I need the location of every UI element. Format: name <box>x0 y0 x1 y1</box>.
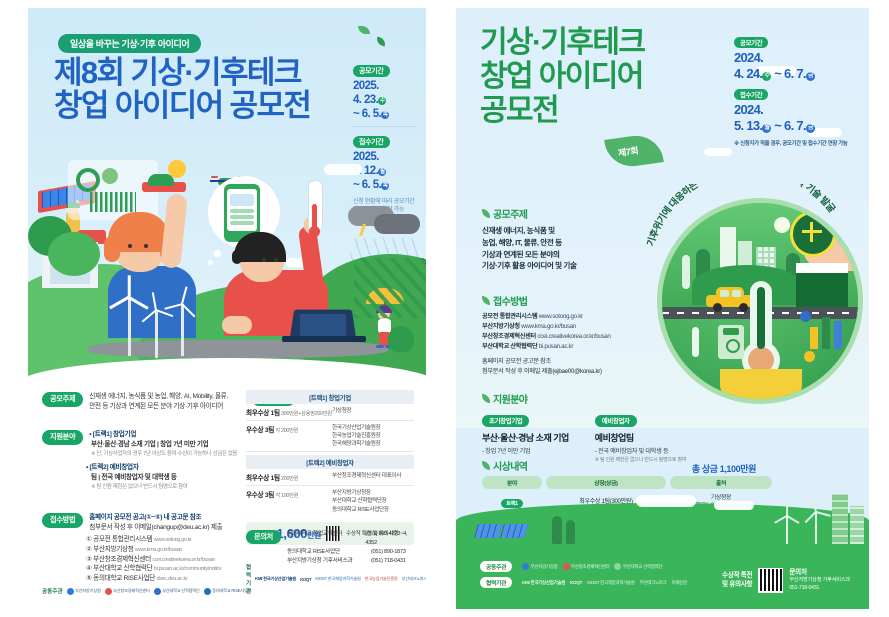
dot-marker <box>800 311 811 322</box>
apply-item: ③ 부산창조경제혁신센터 ccei.creativekorea.or.kr/bu… <box>86 555 247 565</box>
inquiry-label: 문의처 <box>789 569 807 576</box>
right-date-block: 공모기간 2024. 4. 24.수 ~ 6. 7.금 접수기간 2024. 5… <box>734 32 862 147</box>
inquiry-tel: 051-718-0431 <box>789 585 850 593</box>
cloud-icon <box>324 164 362 175</box>
host-name: 부산창조경제혁신센터 <box>113 588 150 594</box>
topic-line: 농업, 해양, IT, 물류, 안전 등 <box>482 237 662 249</box>
leaf-icon <box>482 296 490 305</box>
awards-table: [트랙1] 창업기업 최우수상 1팀 300만원+상용권200만원 기상청장 우… <box>246 390 414 545</box>
partner-name: KOQT <box>300 577 311 582</box>
right-apply-range: 4. 24.수 ~ 6. 7.금 <box>734 66 862 82</box>
topic-line-1: 신재생 에너지, 농식품 및 농업, 해양, AI, Mobility, 물류, <box>86 392 234 402</box>
award-amount: 각 200만원 <box>275 428 298 434</box>
contact-block: 문의처 동의대학교 창업교육센터 (051) 890-4273~4, 4352 … <box>246 530 416 567</box>
leaf-icon <box>482 394 490 403</box>
section-right-fields: 지원분야 초기창업기업 부산·울산·경남 소재 기업 - 창업 7년 이만 기업… <box>482 391 772 463</box>
right-footer-logos: 공동주관 부산지방기상청 부산창조경제혁신센터 부산대학교 산학협력단 협력기관… <box>480 561 687 593</box>
table-row: 최우수상 1팀 300만원+상용권200만원 기상청장 <box>246 404 414 421</box>
prizes-col-award: 상장(상금) <box>546 476 666 489</box>
section-apply: 접수방법 홈페이지 공모전 공고(①~⑤) 내 공고문 참조 첨부문서 작성 후… <box>42 513 247 584</box>
section-right-topic: 공모주제 신재생 에너지, 농식품 및 농업, 해양, IT, 물류, 안전 등… <box>482 206 662 272</box>
weekday-chip: 금 <box>806 124 815 133</box>
partner-name: 부산테크노파크 <box>640 580 667 586</box>
field-note: ※ 팀 인원 제한은 없으나 반드시 팀명으로 참여 <box>595 456 687 463</box>
sleeve-shape <box>796 267 848 307</box>
award-prize: 우수상 3팀 <box>246 427 274 434</box>
host-name: 부산지방기상청 <box>75 588 101 594</box>
weekday-chip: 수 <box>378 97 386 105</box>
leaf-icon <box>482 209 490 218</box>
field-title: 부산·울산·경남 소재 기업 <box>482 431 569 444</box>
topic-line: 신재생 에너지, 농식품 및 <box>482 225 662 237</box>
track2-body: 팀 | 전국 예비창업자 및 대학생 등 <box>91 473 242 483</box>
apply-item-name: 공모전 통합관리시스템 <box>482 313 537 320</box>
host-logo: 부산지방기상청 <box>522 563 557 570</box>
weekday-chip: 수 <box>762 72 771 81</box>
right-date-note: ※ 신청자가 적을 경우, 공모기간 및 접수기간 연장 가능 <box>734 139 862 147</box>
host-name: 부산창조경제혁신센터 <box>571 564 609 570</box>
right-receipt-to: ~ 6. 7. <box>774 118 806 133</box>
topic-heading-text: 공모주제 <box>493 206 527 221</box>
plus-circle-icon <box>790 211 836 257</box>
apply-period-year: 2025. <box>353 79 415 93</box>
building-shape <box>850 506 864 544</box>
host-name: 부산대학교 산학협력단 <box>623 564 662 570</box>
host-label: 공동주관 <box>42 587 63 595</box>
wind-turbine-icon <box>168 294 198 356</box>
apply-item-url: www.sotong.go.kr <box>539 313 583 320</box>
right-footer: 공동주관 부산지방기상청 부산창조경제혁신센터 부산대학교 산학협력단 협력기관… <box>480 561 850 593</box>
page-title: 제8회 기상·기후테크 창업 아이디어 공모전 <box>54 56 354 123</box>
inquiry-name: 부산지방기상청 기후서비스과 <box>789 577 850 585</box>
right-apply-from: 4. 24. <box>734 66 762 81</box>
partner-name: KIOST 한국해양과학기술원 <box>315 576 360 582</box>
host-name: 부산대학교 산학협력단 <box>162 588 200 594</box>
prizes-table-header: 분야 상장(상금) 출처 <box>482 476 772 489</box>
apply-item-url: www.kma.go.kr/busan <box>521 323 576 330</box>
apply-item: ⑤ 동의대학교 RISE사업단 dxec.deu.ac.kr <box>86 574 247 584</box>
tree-icon <box>552 516 562 544</box>
partner-name: KOQT <box>570 580 582 585</box>
qr-inquiry-block: 수상작 특전 및 유의사항 문의처 부산지방기상청 기후서비스과 051-718… <box>722 568 850 593</box>
apply-item-num: ② <box>86 546 92 553</box>
cloud-icon <box>636 495 696 507</box>
title-line-1: 제8회 기상·기후테크 <box>54 56 354 89</box>
contact-row: 동의대학교 창업교육센터 (051) 890-4273~4, 4352 <box>287 530 416 548</box>
inquiry-block: 문의처 부산지방기상청 기후서비스과 051-718-0431 <box>789 568 850 593</box>
contact-badge: 문의처 <box>246 530 281 544</box>
field-col-startup: 초기창업기업 부산·울산·경남 소재 기업 - 창업 7년 이만 기업 <box>482 410 569 463</box>
right-title-line-1: 기상·기후테크 <box>480 26 730 60</box>
apply-item-name: 부산지방기상청 <box>482 323 520 330</box>
award-org: 부산지방기상청장 부산대학교 산학협력단장 동의대학교 RISE사업단장 <box>332 489 414 513</box>
partner-logo-row: 협력기관 KMI 한국기상산업기술원 KOQT KIOST 한국해양과학기술원 … <box>246 563 426 595</box>
storm-cloud-icon <box>374 214 420 234</box>
host-name: 부산지방기상청 <box>531 564 558 570</box>
host-logo: 부산창조경제혁신센터 <box>563 563 610 570</box>
award-amount: 각 100만원 <box>275 493 298 499</box>
cuff-shape <box>796 263 848 273</box>
field-col-preliminary: 예비창업자 예비창업팀 - 전국 예비창업자 및 대학생 등 ※ 팀 인원 제한… <box>595 410 687 463</box>
bush-shape <box>48 232 100 276</box>
partner-name: 부산테크노파크 <box>402 576 426 582</box>
tree-icon <box>566 520 575 544</box>
table-row: 우수상 3팀 각 200만원 한국기상산업기술원장 한국농업기술진흥원장 한국해… <box>246 421 414 452</box>
prizes-heading: 시상내역 <box>482 458 527 473</box>
apply-item-url: dxec.deu.ac.kr <box>157 576 188 582</box>
prizes-heading-text: 시상내역 <box>493 458 527 473</box>
prizes-col-field: 분야 <box>482 476 542 489</box>
apply-item: ① 공모전 통합관리시스템 www.sotong.go.kr <box>86 535 247 545</box>
apply-item-name: 부산지방기상청 <box>93 546 133 553</box>
cloud-icon <box>704 148 732 156</box>
hero-illustration <box>28 158 426 380</box>
award-amount: 300만원+상용권200만원 <box>281 411 332 417</box>
table-row: 최우수상 1팀 200만원 부산창조경제혁신센터 대표이사 <box>246 469 414 486</box>
partner-logo-row: 협력기관 KMI 한국기상산업기술원 KOQT KIOST 한국해양과학기술원 … <box>480 577 687 588</box>
wind-turbine-icon <box>774 508 800 544</box>
apply-item-num: ① <box>86 536 92 543</box>
apply-head-2: 첨부문서 작성 후 이메일(changup@deu.ac.kr) 제출 <box>86 523 247 533</box>
wind-turbine-icon <box>802 504 830 544</box>
track2-title: • [트랙2] 예비창업자 <box>86 463 242 473</box>
prizes-total: 총 상금 1,100만원 <box>692 462 756 475</box>
partner-name: KMI 한국기상산업기술원 <box>255 576 296 582</box>
building-shape <box>832 494 848 544</box>
divider <box>353 126 415 127</box>
apply-period-to: ~ 6. 5.목 <box>353 107 415 121</box>
apply-to-date: ~ 6. 5. <box>353 108 381 120</box>
apply-item: 부산대학교 산학협력단 bi.pusan.ac.kr <box>482 342 697 352</box>
topic-body: 신재생 에너지, 농식품 및 농업, 해양, IT, 물류, 안전 등 기상과 … <box>482 225 662 272</box>
right-apply-to: ~ 6. 7. <box>774 66 806 81</box>
host-logo: 부산창조경제혁신센터 <box>105 588 150 595</box>
apply-item-name: 부산창조경제혁신센터 <box>93 556 151 563</box>
topic-line: 기상과 연계된 모든 분야의 <box>482 249 662 261</box>
right-receipt-year: 2024. <box>734 102 862 118</box>
bubble-dot <box>208 260 213 265</box>
apply-item-name: 부산창조경제혁신센터 <box>482 333 536 340</box>
host-logo: 부산지방기상청 <box>67 588 101 595</box>
partner-label: 협력기관 <box>480 577 512 588</box>
track-badge: 트랙1 <box>501 499 523 508</box>
field-title: 예비창업팀 <box>595 431 687 444</box>
apply-list: 공모전 통합관리시스템 www.sotong.go.kr 부산지방기상청 www… <box>482 312 697 377</box>
apply-item-num: ⑤ <box>86 575 92 582</box>
apply-item: 공모전 통합관리시스템 www.sotong.go.kr <box>482 312 697 322</box>
section-topic: 공모주제 신재생 에너지, 농식품 및 농업, 해양, AI, Mobility… <box>42 392 234 412</box>
apply-period-from: 4. 23.수 <box>353 93 415 107</box>
apply-list: ① 공모전 통합관리시스템 www.sotong.go.kr ② 부산지방기상청… <box>86 535 247 584</box>
track1-body: 부산·울산·경남 소재 기업 | 창업 7년 미만 기업 <box>91 440 242 450</box>
contact-tel: (051) 890-1873 <box>371 548 406 557</box>
host-logo: 부산대학교 산학협력단 <box>614 563 662 570</box>
section-fields: 지원분야 • [트랙1] 창업기업 부산·울산·경남 소재 기업 | 창업 7년… <box>42 430 242 491</box>
apply-item: 부산지방기상청 www.kma.go.kr/busan <box>482 322 697 332</box>
contact-name: 동의대학교 RISE사업단 <box>287 548 363 557</box>
apply-item-name: 동의대학교 RISE사업단 <box>93 575 155 582</box>
right-page-title: 기상·기후테크 창업 아이디어 공모전 <box>480 26 730 129</box>
contact-row: 동의대학교 RISE사업단 (051) 890-1873 <box>287 548 416 557</box>
apply-note-2: 첨부문서 작성 후 이메일 제출(ejbae00@korea.kr) <box>482 367 697 377</box>
apply-item-name: 부산대학교 산학협력단 <box>482 343 537 350</box>
qr-caption-line-2: 및 유의사항 <box>722 580 752 589</box>
apply-item: 부산창조경제혁신센터 ccei.creativekorea.or.kr/busa… <box>482 332 697 342</box>
right-title-line-2: 창업 아이디어 <box>480 60 730 94</box>
bar-shape <box>810 327 818 349</box>
topic-badge: 공모주제 <box>42 392 83 407</box>
weekday-chip: 금 <box>806 72 815 81</box>
award-prize: 최우수상 1팀 <box>246 475 280 482</box>
awards-track1-header: [트랙1] 창업기업 <box>246 390 414 404</box>
bar-shape <box>822 317 830 349</box>
awards-track2-header: [트랙2] 예비창업자 <box>246 455 414 469</box>
apply-item-url: ccei.creativekorea.or.kr/busan <box>152 557 215 563</box>
partner-name: KMI 한국기상산업기술원 <box>522 580 565 586</box>
partner-name: 한국농업기술진흥원 <box>365 576 398 582</box>
track2-note: ※ 팀 인원 제한은 없으나 반드시 팀명으로 참여 <box>91 483 242 491</box>
dot-marker <box>804 351 815 362</box>
eco-card-icon <box>718 325 744 359</box>
apply-head-1: 홈페이지 공모전 공고(①~⑤) 내 공고문 참조 <box>86 513 247 523</box>
right-poster: 기상·기후테크 창업 아이디어 공모전 제7회 공모기간 2024. 4. 24… <box>456 8 869 609</box>
prizes-col-org: 출처 <box>670 476 772 489</box>
host-logo-row: 공동주관 부산지방기상청 부산창조경제혁신센터 부산대학교 산학협력단 <box>480 561 687 572</box>
apply-heading-text: 접수방법 <box>493 293 527 308</box>
apply-badge: 접수방법 <box>42 513 83 528</box>
left-poster: 일상을 바꾸는 기상·기후 아이디어 제8회 기상·기후테크 창업 아이디어 공… <box>28 8 426 609</box>
cloud-icon <box>714 501 754 510</box>
award-org: 부산창조경제혁신센터 대표이사 <box>332 472 414 482</box>
receipt-period-label: 접수기간 <box>353 136 390 148</box>
apply-item-url: bi.pusan.ac.kr/community/notice <box>154 566 222 572</box>
right-apply-year: 2024. <box>734 50 862 66</box>
apply-item-url: ccei.creativekorea.or.kr/busan <box>537 333 610 340</box>
field-li: - 창업 7년 이만 기업 <box>482 446 569 455</box>
partner-label: 협력기관 <box>246 563 251 595</box>
weekday-chip: 월 <box>762 124 771 133</box>
sun-icon <box>774 217 790 233</box>
field-cap: 초기창업기업 <box>482 415 529 427</box>
field-li: - 전국 예비창업자 및 대학생 등 <box>595 446 687 455</box>
apply-item: ④ 부산대학교 산학협력단 bi.pusan.ac.kr/community/n… <box>86 564 247 574</box>
leaf-icon <box>482 461 490 470</box>
right-title-line-3: 공모전 <box>480 94 730 128</box>
award-prize: 우수상 3팀 <box>246 492 274 499</box>
bar-shape <box>834 321 842 349</box>
apply-item-name: 공모전 통합관리시스템 <box>93 536 152 543</box>
fields-badge: 지원분야 <box>42 430 83 445</box>
contact-name: 동의대학교 창업교육센터 <box>287 530 357 548</box>
host-logo: 동의대학교 RISE사업단 <box>204 588 252 595</box>
topic-line-2: 안전 등 기상과 연계된 모든 분야 기상·기후 아이디어 <box>86 402 234 412</box>
field-cap: 예비창업자 <box>595 415 637 427</box>
qr-code[interactable] <box>758 568 783 593</box>
car-icon <box>706 287 756 309</box>
apply-item-num: ③ <box>86 556 92 563</box>
left-body-panel: 공모주제 신재생 에너지, 농식품 및 농업, 해양, AI, Mobility… <box>28 378 426 609</box>
apply-item-name: 부산대학교 산학협력단 <box>93 565 152 572</box>
bush-shape <box>388 326 414 352</box>
apply-item: ② 부산지방기상청 www.kma.go.kr/busan <box>86 545 247 555</box>
apply-note-1: 홈페이지 공모전 공고문 참조 <box>482 357 697 367</box>
host-logo: 부산대학교 산학협력단 <box>154 588 200 595</box>
track1-title: • [트랙1] 창업기업 <box>86 430 242 440</box>
edition-label: 제7회 <box>617 144 639 160</box>
award-org: 한국기상산업기술원장 한국농업기술진흥원장 한국해양과학기술원장 <box>332 424 414 448</box>
topic-line: 기상·기후 활용 아이디어 및 기술 <box>482 260 662 272</box>
apply-item-url: www.sotong.go.kr <box>154 537 192 543</box>
award-org: 기상청장 <box>332 407 414 417</box>
thermometer-mercury <box>757 287 765 349</box>
screenshot-root: 일상을 바꾸는 기상·기후 아이디어 제8회 기상·기후테크 창업 아이디어 공… <box>0 0 889 617</box>
award-prize: 최우수상 1팀 <box>246 410 280 417</box>
host-label: 공동주관 <box>480 561 512 572</box>
prizes-heading-wrap: 시상내역 <box>482 458 527 477</box>
right-receipt-period-label: 접수기간 <box>734 89 768 100</box>
right-apply-period-label: 공모기간 <box>734 37 768 48</box>
fields-heading: 지원분야 <box>482 391 772 406</box>
contact-tel: (051) 890-4273~4, 4352 <box>365 530 416 548</box>
apply-item-url: bi.pusan.ac.kr <box>539 343 573 350</box>
section-right-apply: 접수방법 공모전 통합관리시스템 www.sotong.go.kr 부산지방기상… <box>482 293 697 377</box>
apply-item-url: www.kma.go.kr/busan <box>135 547 182 553</box>
apply-period-label: 공모기간 <box>353 65 390 77</box>
right-receipt-from: 5. 13. <box>734 118 762 133</box>
apply-item-num: ④ <box>86 565 92 572</box>
partner-name: 미래신문 <box>672 580 687 586</box>
fields-heading-text: 지원분야 <box>493 391 527 406</box>
qr-caption-line-1: 수상작 특전 <box>722 571 752 580</box>
forest-texture <box>354 258 426 318</box>
apply-heading: 접수방법 <box>482 293 697 308</box>
solar-panel-illustration <box>476 524 528 546</box>
topic-heading: 공모주제 <box>482 206 662 221</box>
table-row: 우수상 3팀 각 100만원 부산지방기상청장 부산대학교 산학협력단장 동의대… <box>246 486 414 516</box>
right-receipt-range: 5. 13.월 ~ 6. 7.금 <box>734 118 862 134</box>
wind-turbine-icon <box>682 255 690 289</box>
award-amount: 200만원 <box>281 476 298 482</box>
track1-note: ※ 단, 기상사업자의 경우 7년 이상도 참여·수상이 가능하나 상금은 없음 <box>91 450 242 458</box>
partner-name: KIOST 한국해양과학기술원 <box>587 580 635 586</box>
host-logo-row: 공동주관 부산지방기상청 부산창조경제혁신센터 부산대학교 산학협력단 동의대학… <box>42 587 251 595</box>
apply-from-date: 4. 23. <box>353 94 378 106</box>
tagline-badge: 일상을 바꾸는 기상·기후 아이디어 <box>58 34 201 53</box>
weekday-chip: 목 <box>381 111 389 119</box>
title-line-2: 창업 아이디어 공모전 <box>54 89 354 122</box>
qr-caption: 수상작 특전 및 유의사항 <box>722 571 752 589</box>
